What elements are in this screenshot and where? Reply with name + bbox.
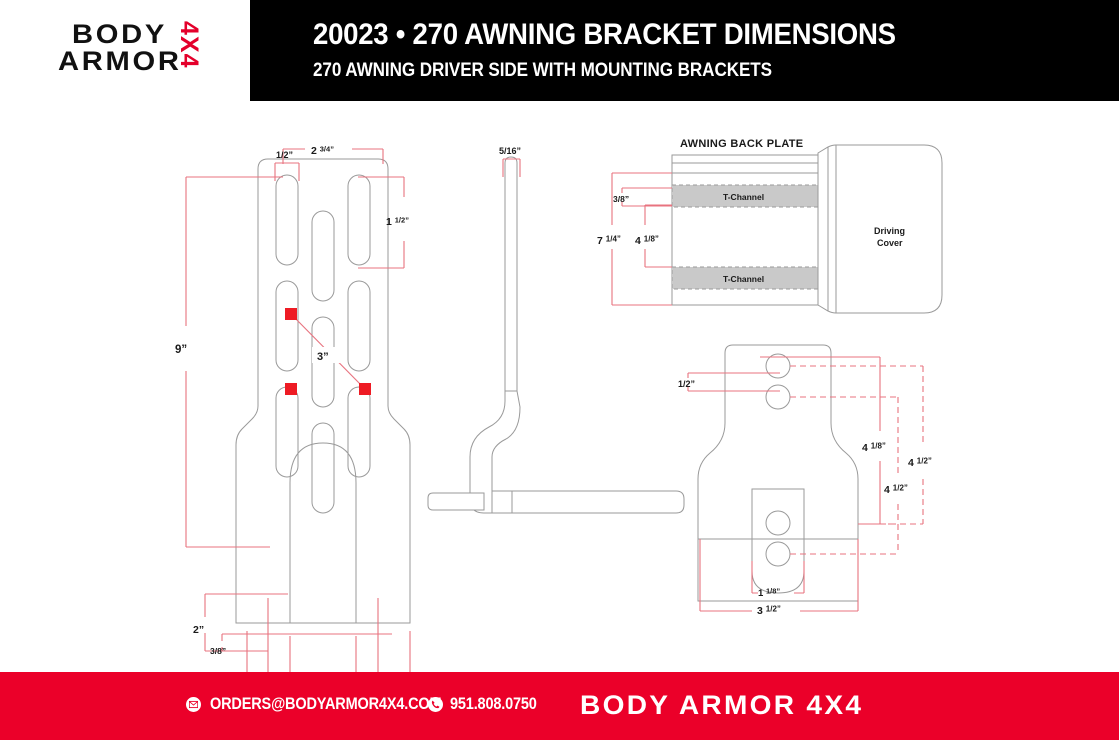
marker-square-3 [359, 383, 371, 395]
dim-label-3-8-bp: 3/8” [613, 194, 629, 204]
bracket-front-view: 2 3/4” 1/2” 1 1/2” 9” [175, 145, 410, 673]
dim-1-3-8: 1 3/8” [290, 636, 356, 672]
driving-cover-outline: Driving Cover [818, 145, 942, 313]
dim-label-3: 3” [317, 351, 329, 363]
logo-4x4-mark: 4X4 [174, 21, 203, 68]
bracket-side-outline [428, 157, 684, 513]
phone-icon [428, 697, 443, 712]
dim-label-9: 9” [175, 344, 187, 356]
hole-4 [766, 542, 790, 566]
page-title: 20023 • 270 AWNING BRACKET DIMENSIONS [313, 18, 896, 52]
page-header: BODY ARMOR 4X4 20023 • 270 AWNING BRACKE… [0, 0, 1119, 101]
logo-line-armor: ARMOR [58, 49, 182, 75]
dim-label-1-2-m: 1/2” [678, 379, 695, 389]
footer-brand-logo: BODY ARMOR 4X4 [580, 690, 863, 721]
dim-4-1-2-b: 4 1/2” [884, 397, 908, 554]
footer-phone-text: 951.808.0750 [450, 695, 537, 714]
dim-label-4-1-8-m: 4 1/8” [862, 442, 886, 455]
page-footer: ORDERS@BODYARMOR4X4.COM 951.808.0750 [0, 672, 1119, 740]
back-plate-outline: T-Channel T-Channel [672, 155, 818, 305]
bracket-front-outline [236, 159, 410, 623]
hole-3 [766, 511, 790, 535]
awning-back-plate-view: AWNING BACK PLATE T-Channel T-Channel Dr… [597, 138, 942, 313]
dim-3-1-2: 3 1/2” [247, 631, 410, 672]
dim-label-5-16: 5/16” [499, 146, 521, 156]
dim-label-1-1-2: 1 1/2” [386, 216, 409, 229]
dim-3-8: 3/8” [210, 634, 392, 656]
marker-square-2 [285, 383, 297, 395]
hole-1 [766, 354, 790, 378]
logo-line-body: BODY [72, 22, 167, 48]
dim-label-2: 2” [193, 624, 204, 636]
dim-label-4-1-8-bp: 4 1/8” [635, 235, 659, 248]
page-subtitle: 270 AWNING DRIVER SIDE WITH MOUNTING BRA… [313, 60, 772, 82]
hole-2 [766, 385, 790, 409]
dim-label-7-1-4: 7 1/4” [597, 235, 621, 248]
dim-4-1-2-a: 4 1/2” [880, 366, 932, 524]
driving-cover-label-2: Cover [877, 238, 903, 248]
dim-3-8-bp: 3/8” [613, 188, 672, 206]
driving-cover-label-1: Driving [874, 226, 905, 236]
dim-label-1-2: 1/2” [276, 150, 293, 160]
footer-phone-group[interactable]: 951.808.0750 [428, 695, 549, 714]
technical-drawing-canvas: .part { fill:none; stroke:#9a9a9a; strok… [0, 101, 1119, 672]
dim-label-3-8: 3/8” [210, 646, 226, 656]
drawing-page: BODY ARMOR 4X4 20023 • 270 AWNING BRACKE… [0, 0, 1119, 740]
dim-label-4-1-2-b: 4 1/2” [884, 484, 908, 497]
mount-bracket-view: 1/2” 4 1/8” 4 1/2” 4 1/2” [678, 345, 932, 617]
t-channel-bottom-label: T-Channel [723, 274, 764, 284]
brand-logo: BODY ARMOR 4X4 [58, 18, 238, 88]
dim-label-2-3-4: 2 3/4” [311, 145, 334, 158]
t-channel-top-label: T-Channel [723, 192, 764, 202]
dim-4-1-8-bp: 4 1/8” [635, 205, 672, 267]
footer-email-text: ORDERS@BODYARMOR4X4.COM [210, 695, 441, 714]
bracket-side-view: 5/16” [428, 146, 684, 513]
awning-back-plate-title: AWNING BACK PLATE [680, 138, 803, 150]
dim-label-3-1-2-m: 3 1/2” [757, 605, 781, 618]
dim-label-4-1-2-a: 4 1/2” [908, 457, 932, 470]
mount-bracket-outline [698, 345, 858, 601]
envelope-icon [186, 697, 201, 712]
marker-square-1 [285, 308, 297, 320]
